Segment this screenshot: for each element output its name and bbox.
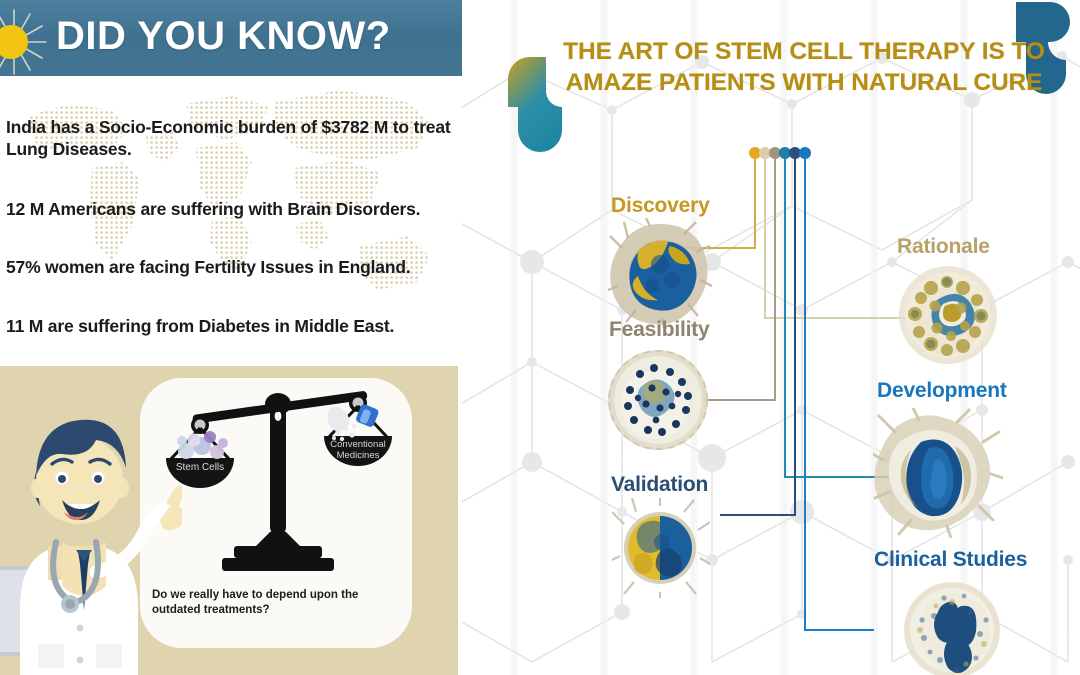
balance-scale-icon: Stem Cells Conventional Medicines — [162, 388, 394, 578]
fact-item: 11 M are suffering from Diabetes in Midd… — [6, 315, 458, 337]
doctor-character-icon — [0, 376, 182, 675]
stem-cell-discovery — [608, 218, 712, 328]
stage-label-validation: Validation — [611, 473, 708, 497]
sun-burst-icon — [0, 6, 50, 78]
scale-pan-left-label: Stem Cells — [176, 462, 224, 473]
did-you-know-header-bar: DID YOU KNOW? — [0, 0, 462, 76]
fact-item: India has a Socio-Economic burden of $37… — [6, 116, 458, 161]
slide-canvas: DID YOU KNOW? — [0, 0, 1080, 675]
stage-label-feasibility: Feasibility — [609, 318, 710, 342]
stem-cell-development — [873, 408, 1003, 538]
svg-text:Conventional: Conventional — [330, 439, 385, 450]
did-you-know-title: DID YOU KNOW? — [56, 14, 456, 59]
stage-label-clinical-studies: Clinical Studies — [874, 548, 1027, 572]
fact-item: 12 M Americans are suffering with Brain … — [6, 198, 458, 220]
stage-label-development: Development — [877, 379, 1007, 403]
scale-question-text: Do we really have to depend upon the out… — [152, 588, 402, 618]
stage-label-discovery: Discovery — [611, 194, 710, 218]
stem-cell-validation — [612, 498, 710, 598]
facts-list: India has a Socio-Economic burden of $37… — [0, 76, 462, 366]
illustration-panel: Stem Cells Conventional Medicines Do we … — [0, 366, 458, 675]
svg-text:Medicines: Medicines — [337, 450, 380, 461]
stem-cell-rationale — [895, 262, 1001, 368]
stem-cell-feasibility — [602, 344, 714, 456]
stage-label-rationale: Rationale — [897, 235, 990, 259]
stem-cell-clinical — [900, 578, 1004, 675]
did-you-know-panel: DID YOU KNOW? — [0, 0, 462, 675]
fact-item: 57% women are facing Fertility Issues in… — [6, 256, 458, 278]
